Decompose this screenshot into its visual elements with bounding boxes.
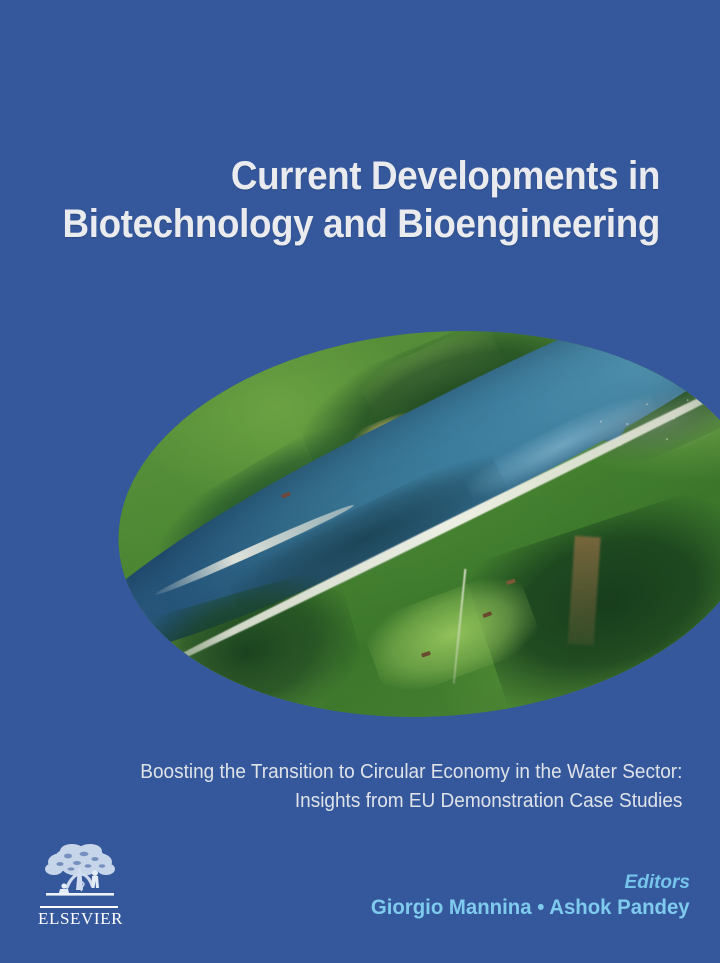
editors-block: Editors Giorgio Mannina • Ashok Pandey bbox=[361, 872, 690, 922]
cover-image bbox=[105, 309, 720, 739]
title-line-2: Biotechnology and Bioengineering bbox=[53, 200, 660, 248]
editors-label: Editors bbox=[361, 872, 690, 894]
elsevier-tree-icon bbox=[38, 842, 122, 904]
photo-tone-overlay bbox=[105, 309, 720, 739]
title-line-1: Current Developments in bbox=[53, 152, 660, 200]
editors-names: Giorgio Mannina • Ashok Pandey bbox=[371, 894, 690, 922]
aerial-landscape-photo bbox=[105, 309, 720, 739]
book-cover: Current Developments in Biotechnology an… bbox=[0, 0, 720, 963]
subtitle-line-1: Boosting the Transition to Circular Econ… bbox=[35, 758, 683, 787]
logo-divider bbox=[40, 906, 118, 908]
elsevier-wordmark: ELSEVIER bbox=[38, 909, 120, 929]
page-title: Current Developments in Biotechnology an… bbox=[0, 152, 690, 248]
publisher-logo: ELSEVIER bbox=[38, 842, 122, 929]
cover-subtitle: Boosting the Transition to Circular Econ… bbox=[35, 758, 691, 816]
subtitle-line-2: Insights from EU Demonstration Case Stud… bbox=[35, 787, 683, 816]
